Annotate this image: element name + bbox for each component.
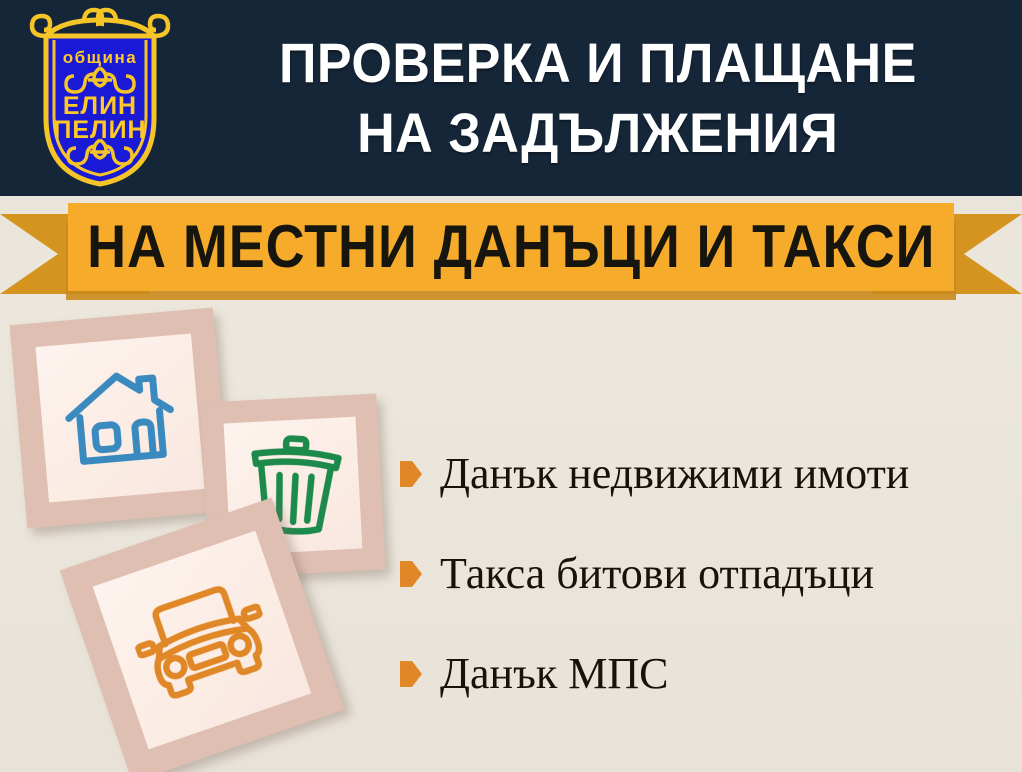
arrow-bullet-icon	[400, 461, 422, 487]
stamp-card-house	[9, 307, 230, 528]
house-icon	[59, 357, 180, 478]
list-item[interactable]: Такса битови отпадъци	[400, 524, 1010, 624]
list-item-label: Данък недвижими имоти	[440, 449, 909, 499]
header-banner: община ЕЛИН ПЕЛИН ПРОВЕРКА И ПЛАЩАНЕ НА …	[0, 0, 1022, 196]
ribbon-text: НА МЕСТНИ ДАНЪЦИ И ТАКСИ	[87, 217, 935, 277]
crest-logo: община ЕЛИН ПЕЛИН	[22, 6, 178, 188]
crest-word-line2: ПЕЛИН	[53, 116, 146, 144]
service-list: Данък недвижими имоти Такса битови отпад…	[400, 424, 1010, 724]
list-item[interactable]: Данък недвижими имоти	[400, 424, 1010, 524]
crest-word-top: община	[63, 48, 137, 67]
header-title-block: ПРОВЕРКА И ПЛАЩАНЕ НА ЗАДЪЛЖЕНИЯ	[188, 0, 1008, 196]
list-item-label: Данък МПС	[440, 649, 668, 699]
arrow-bullet-icon	[400, 561, 422, 587]
ribbon-band: НА МЕСТНИ ДАНЪЦИ И ТАКСИ	[68, 203, 954, 291]
list-item[interactable]: Данък МПС	[400, 624, 1010, 724]
arrow-bullet-icon	[400, 661, 422, 687]
poster-canvas: община ЕЛИН ПЕЛИН ПРОВЕРКА И ПЛАЩАНЕ НА …	[0, 0, 1022, 772]
list-item-label: Такса битови отпадъци	[440, 549, 874, 599]
page-title-line-2: НА ЗАДЪЛЖЕНИЯ	[357, 98, 838, 168]
subtitle-ribbon: НА МЕСТНИ ДАНЪЦИ И ТАКСИ	[0, 196, 1022, 308]
crest-shield-icon: община ЕЛИН ПЕЛИН	[22, 6, 178, 188]
page-title-line-1: ПРОВЕРКА И ПЛАЩАНЕ	[279, 28, 917, 98]
